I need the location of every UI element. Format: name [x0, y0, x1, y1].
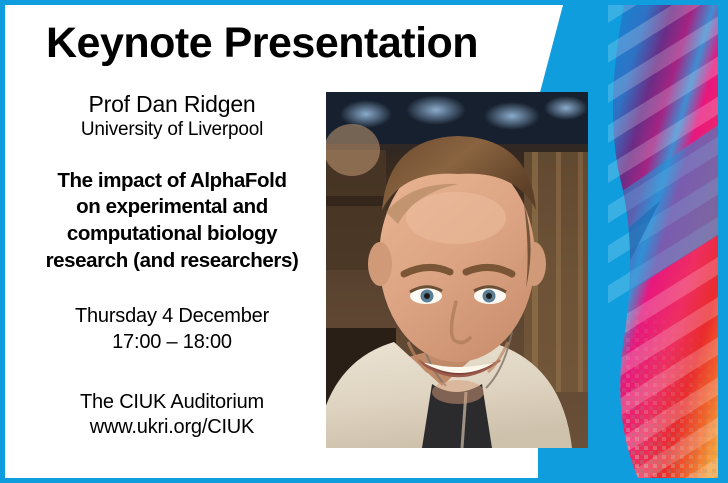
page-title: Keynote Presentation — [46, 19, 478, 68]
event-datetime: Thursday 4 December 17:00 – 18:00 — [12, 304, 332, 355]
decorative-ribbon-graphic — [608, 5, 718, 478]
talk-title-line: on experimental and — [12, 194, 332, 221]
event-url: www.ukri.org/CIUK — [12, 415, 332, 441]
event-time: 17:00 – 18:00 — [12, 330, 332, 356]
keynote-presentation-poster: Keynote Presentation Prof Dan Ridgen Uni… — [0, 0, 728, 483]
talk-title-line: computational biology — [12, 221, 332, 248]
speaker-photo — [326, 92, 588, 448]
speaker-affiliation: University of Liverpool — [12, 118, 332, 142]
speaker-name: Prof Dan Ridgen — [12, 90, 332, 118]
talk-title: The impact of AlphaFold on experimental … — [12, 168, 332, 275]
event-date: Thursday 4 December — [12, 304, 332, 330]
details-column: Prof Dan Ridgen University of Liverpool … — [12, 90, 332, 441]
event-location: The CIUK Auditorium www.ukri.org/CIUK — [12, 390, 332, 441]
event-venue: The CIUK Auditorium — [12, 390, 332, 416]
talk-title-line: research (and researchers) — [12, 248, 332, 275]
talk-title-line: The impact of AlphaFold — [12, 168, 332, 195]
